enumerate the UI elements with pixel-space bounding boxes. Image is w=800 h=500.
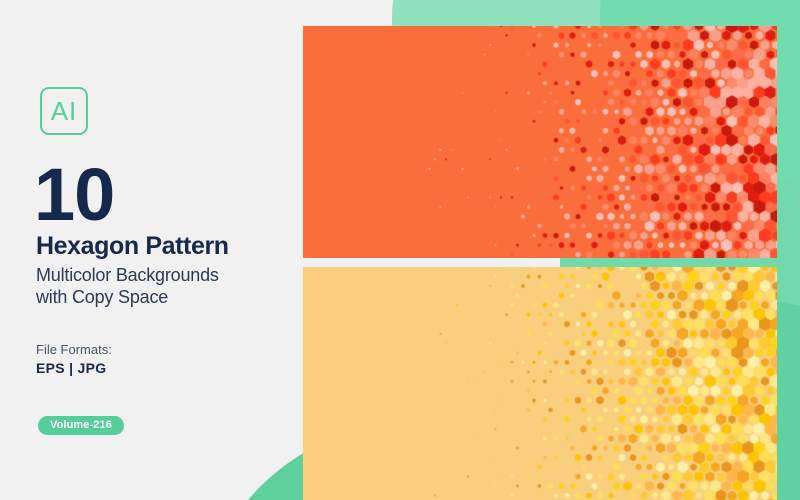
preview-card: AI 10 Hexagon Pattern Multicolor Backgro… [0,0,800,500]
page-subtitle: Multicolor Backgrounds with Copy Space [36,264,298,308]
ai-badge-label: AI [51,98,78,124]
subtitle-line-2: with Copy Space [36,286,298,308]
orange-hexagon-canvas [303,26,777,258]
orange-hexagon-preview[interactable] [303,26,777,258]
page-title: Hexagon Pattern [36,232,229,260]
volume-badge: Volume-216 [38,416,124,435]
info-column: AI 10 Hexagon Pattern Multicolor Backgro… [0,0,303,500]
subtitle-line-1: Multicolor Backgrounds [36,264,298,286]
yellow-hexagon-preview[interactable] [303,267,777,500]
adobe-illustrator-badge-icon: AI [40,87,88,135]
file-formats-label: File Formats: [36,342,112,358]
volume-badge-label: Volume-216 [50,420,112,431]
yellow-hexagon-canvas [303,267,777,500]
item-count: 10 [34,158,114,232]
file-formats-value: EPS | JPG [36,360,106,377]
